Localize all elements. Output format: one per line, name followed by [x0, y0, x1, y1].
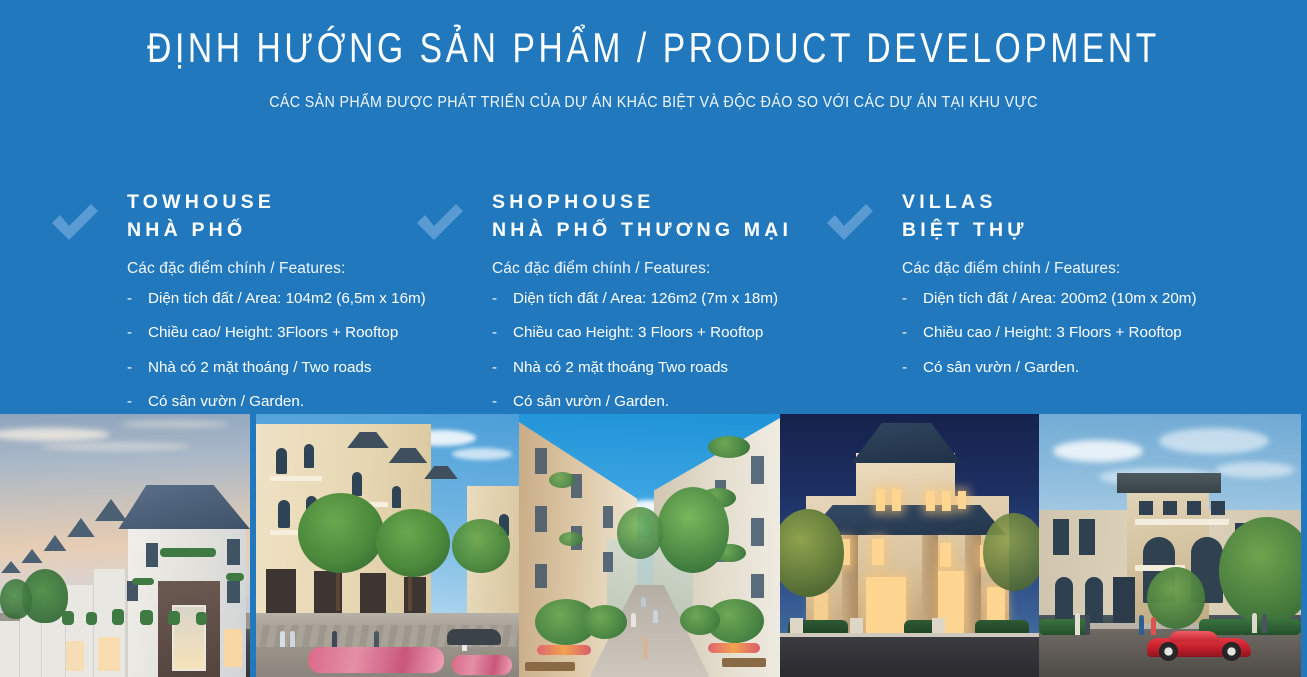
feature-list: -Diện tích đất / Area: 126m2 (7m x 18m) …	[492, 289, 818, 413]
bullet-marker: -	[902, 358, 907, 379]
feature-text: Diện tích đất / Area: 126m2 (7m x 18m)	[513, 290, 778, 307]
product-card-towhouse: TOWHOUSE NHÀ PHỐ Các đặc điểm chính / Fe…	[0, 188, 408, 427]
render-scene	[0, 414, 250, 677]
list-item: -Diện tích đất / Area: 200m2 (10m x 20m)	[902, 289, 1307, 310]
product-card-body: TOWHOUSE NHÀ PHỐ Các đặc điểm chính / Fe…	[127, 188, 426, 427]
gallery-image-shophouse-street-trees-render	[256, 414, 519, 677]
list-item: -Nhà có 2 mặt thoáng Two roads	[492, 358, 818, 379]
feature-text: Chiều cao / Height: 3 Floors + Rooftop	[923, 324, 1182, 341]
bullet-marker: -	[127, 323, 132, 344]
check-icon	[48, 201, 100, 243]
list-item: -Chiều cao Height: 3 Floors + Rooftop	[492, 323, 818, 344]
list-item: -Diện tích đất / Area: 104m2 (6,5m x 16m…	[127, 289, 426, 310]
list-item: -Có sân vườn / Garden.	[492, 392, 818, 413]
feature-list: -Diện tích đất / Area: 104m2 (6,5m x 16m…	[127, 289, 426, 413]
feature-text: Chiều cao Height: 3 Floors + Rooftop	[513, 324, 763, 341]
bullet-marker: -	[492, 392, 497, 413]
list-item: -Chiều cao/ Height: 3Floors + Rooftop	[127, 323, 426, 344]
product-columns: TOWHOUSE NHÀ PHỐ Các đặc điểm chính / Fe…	[0, 188, 1307, 427]
render-scene	[1039, 414, 1301, 677]
feature-text: Có sân vườn / Garden.	[923, 359, 1079, 376]
bullet-marker: -	[902, 289, 907, 310]
feature-text: Nhà có 2 mặt thoáng / Two roads	[148, 359, 371, 376]
features-label: Các đặc điểm chính / Features:	[127, 260, 426, 278]
product-card-villas: VILLAS BIỆT THỰ Các đặc điểm chính / Fea…	[818, 188, 1307, 392]
product-title-vi: NHÀ PHỐ	[127, 216, 426, 244]
feature-text: Diện tích đất / Area: 104m2 (6,5m x 16m)	[148, 290, 426, 307]
gallery-image-villa-dusk-lit-render	[780, 414, 1039, 677]
feature-text: Có sân vườn / Garden.	[148, 393, 304, 410]
feature-text: Chiều cao/ Height: 3Floors + Rooftop	[148, 324, 398, 341]
gallery-image-shophouse-pedestrian-alley-render	[519, 414, 780, 677]
feature-text: Diện tích đất / Area: 200m2 (10m x 20m)	[923, 290, 1197, 307]
bullet-marker: -	[492, 323, 497, 344]
feature-text: Có sân vườn / Garden.	[513, 393, 669, 410]
feature-text: Nhà có 2 mặt thoáng Two roads	[513, 359, 728, 376]
slide-root: ĐỊNH HƯỚNG SẢN PHẨM / PRODUCT DEVELOPMEN…	[0, 0, 1307, 677]
red-sportscar	[1147, 631, 1251, 661]
gallery-strip	[0, 414, 1307, 677]
bullet-marker: -	[127, 289, 132, 310]
bullet-marker: -	[492, 358, 497, 379]
product-title-en: TOWHOUSE	[127, 188, 426, 216]
list-item: -Nhà có 2 mặt thoáng / Two roads	[127, 358, 426, 379]
page-subtitle: CÁC SẢN PHẨM ĐƯỢC PHÁT TRIỂN CỦA DỰ ÁN K…	[52, 94, 1254, 112]
list-item: -Chiều cao / Height: 3 Floors + Rooftop	[902, 323, 1307, 344]
check-icon	[823, 201, 875, 243]
bullet-marker: -	[127, 358, 132, 379]
bullet-marker: -	[902, 323, 907, 344]
feature-list: -Diện tích đất / Area: 200m2 (10m x 20m)…	[902, 289, 1307, 379]
bullet-marker: -	[492, 289, 497, 310]
features-label: Các đặc điểm chính / Features:	[492, 260, 818, 278]
product-title-vi: NHÀ PHỐ THƯƠNG MẠI	[492, 216, 818, 244]
gallery-image-townhouse-row-sunset-render	[0, 414, 250, 677]
slide-header: ĐỊNH HƯỚNG SẢN PHẨM / PRODUCT DEVELOPMEN…	[0, 0, 1307, 112]
product-title-vi: BIỆT THỰ	[902, 216, 1307, 244]
list-item: -Có sân vườn / Garden.	[902, 358, 1307, 379]
render-scene	[256, 414, 519, 677]
render-scene	[780, 414, 1039, 677]
list-item: -Có sân vườn / Garden.	[127, 392, 426, 413]
product-card-shophouse: SHOPHOUSE NHÀ PHỐ THƯƠNG MẠI Các đặc điể…	[408, 188, 818, 427]
gallery-image-villa-with-red-sportscar-render	[1039, 414, 1301, 677]
product-title-en: SHOPHOUSE	[492, 188, 818, 216]
page-title: ĐỊNH HƯỚNG SẢN PHẨM / PRODUCT DEVELOPMEN…	[131, 24, 1177, 72]
render-scene	[519, 414, 780, 677]
product-card-body: VILLAS BIỆT THỰ Các đặc điểm chính / Fea…	[902, 188, 1307, 392]
product-title-en: VILLAS	[902, 188, 1307, 216]
list-item: -Diện tích đất / Area: 126m2 (7m x 18m)	[492, 289, 818, 310]
bullet-marker: -	[127, 392, 132, 413]
features-label: Các đặc điểm chính / Features:	[902, 260, 1307, 278]
check-icon	[413, 201, 465, 243]
product-card-body: SHOPHOUSE NHÀ PHỐ THƯƠNG MẠI Các đặc điể…	[492, 188, 818, 427]
